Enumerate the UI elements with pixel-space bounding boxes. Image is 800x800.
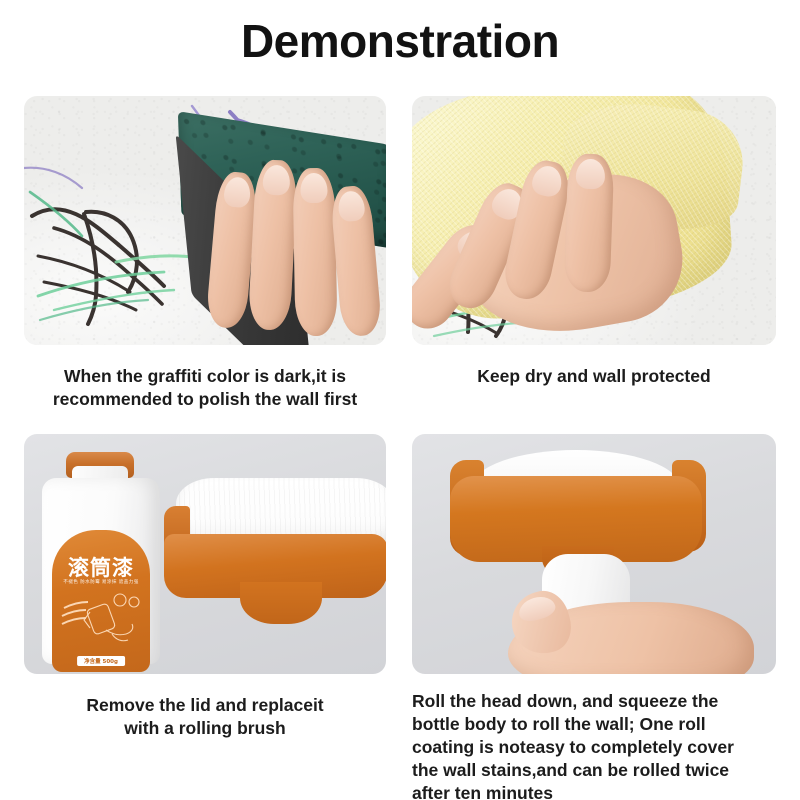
- caption-line: Remove the lid and replaceit: [24, 694, 386, 717]
- caption-line: coating is noteasy to completely cover: [412, 736, 776, 759]
- step-4: Roll the head down, and squeeze the bott…: [412, 434, 776, 800]
- step-2-caption: Keep dry and wall protected: [412, 365, 776, 388]
- fingernail: [223, 176, 251, 208]
- step-1-photo: [24, 96, 386, 345]
- fingernail: [300, 173, 327, 203]
- caption-line: bottle body to roll the wall; One roll: [412, 713, 776, 736]
- finger: [293, 168, 338, 337]
- thumbnail: [516, 593, 558, 624]
- hand-holding-sponge-icon: [206, 138, 384, 345]
- label-subtitle: 不褪色 防水防霉 易涂抹 遮盖力强: [52, 579, 150, 585]
- caption-line: after ten minutes: [412, 782, 776, 800]
- bottle-body: 滚筒漆 不褪色 防水防霉 易涂抹 遮盖力强: [42, 478, 160, 664]
- caption-line: the wall stains,and can be rolled twice: [412, 759, 776, 782]
- step-4-photo: [412, 434, 776, 674]
- caption-line: When the graffiti color is dark,it is: [24, 365, 386, 388]
- hand-gripping-bottle-icon: [508, 584, 758, 674]
- hand-wiping-icon: [426, 134, 676, 339]
- step-3-caption: Remove the lid and replaceit with a roll…: [24, 694, 386, 740]
- step-3: 滚筒漆 不褪色 防水防霉 易涂抹 遮盖力强: [24, 434, 386, 740]
- label-weight: 净含量 500g: [77, 656, 125, 666]
- page-title: Demonstration: [0, 14, 800, 68]
- fingernail: [262, 164, 290, 195]
- label-product-name: 滚筒漆: [52, 552, 150, 582]
- step-2: Keep dry and wall protected: [412, 96, 776, 388]
- step-1: When the graffiti color is dark,it is re…: [24, 96, 386, 411]
- step-3-photo: 滚筒漆 不褪色 防水防霉 易涂抹 遮盖力强: [24, 434, 386, 674]
- finger: [330, 185, 383, 338]
- demonstration-page: Demonstration: [0, 0, 800, 800]
- finger: [248, 159, 299, 331]
- bottle-label: 滚筒漆 不褪色 防水防霉 易涂抹 遮盖力强: [52, 530, 150, 672]
- finger: [564, 153, 615, 293]
- roller-stem: [240, 582, 322, 624]
- caption-line: Keep dry and wall protected: [412, 365, 776, 388]
- fingernail: [530, 163, 565, 198]
- step-2-photo: [412, 96, 776, 345]
- roller-brush-head-icon: [164, 478, 386, 648]
- caption-line: recommended to polish the wall first: [24, 388, 386, 411]
- paint-bottle-icon: 滚筒漆 不褪色 防水防霉 易涂抹 遮盖力强: [42, 452, 160, 664]
- label-illustration-icon: [60, 590, 142, 652]
- fingernail: [337, 190, 365, 222]
- caption-line: Roll the head down, and squeeze the: [412, 690, 776, 713]
- caption-line: with a rolling brush: [24, 717, 386, 740]
- step-4-caption: Roll the head down, and squeeze the bott…: [412, 690, 776, 800]
- step-1-caption: When the graffiti color is dark,it is re…: [24, 365, 386, 411]
- fingernail: [575, 159, 605, 190]
